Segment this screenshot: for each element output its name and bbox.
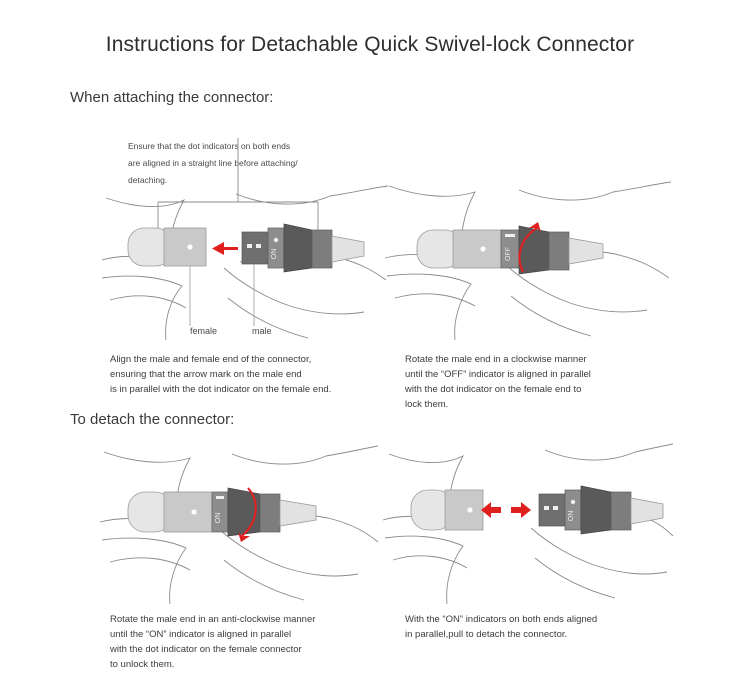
male-connector: ON [539,486,663,534]
caption-line-3: with the dot indicator on the female con… [110,642,376,657]
dot-indicator-male [571,500,575,504]
caption-line-4: lock them. [405,397,673,412]
female-connector [128,228,206,266]
section-heading-detach: To detach the connector: [70,411,234,428]
indicator-label-on: ON [271,249,278,260]
figure-unlock-connector: ON [120,440,370,605]
dot-indicator-female [467,507,472,512]
caption-lock: Rotate the male end in a clockwise manne… [405,352,673,412]
connected-assembly: ON [128,488,316,536]
caption-line-4: to unlock them. [110,657,376,672]
label-leaders [190,264,254,326]
caption-line-2: ensuring that the arrow mark on the male… [110,367,372,382]
label-male: male [252,326,272,336]
caption-line-1: Align the male and female end of the con… [110,352,372,367]
note-line-1: Ensure that the dot indicators on both e… [128,138,358,155]
caption-line-3: is in parallel with the dot indicator on… [110,382,372,397]
dot-indicator-female [191,509,196,514]
dot-indicator-male [274,238,278,242]
caption-line-1: Rotate the male end in an anti-clockwise… [110,612,376,627]
connected-assembly: OFF [417,226,603,274]
figure-pull-detach: ON [405,440,670,605]
label-female: female [190,326,217,336]
section-heading-attach: When attaching the connector: [70,89,273,106]
dot-indicator-female [480,246,485,251]
hand-outlines-left [102,198,186,340]
figure-align-connector: ON [120,180,370,340]
caption-line-1: Rotate the male end in a clockwise manne… [405,352,673,367]
page-title: Instructions for Detachable Quick Swivel… [0,33,740,57]
caption-line-3: with the dot indicator on the female end… [405,382,673,397]
arrow-attach-left [212,242,238,255]
indicator-label-on: ON [568,511,575,522]
caption-unlock: Rotate the male end in an anti-clockwise… [110,612,376,672]
note-line-2: are aligned in a straight line before at… [128,155,358,172]
caption-align: Align the male and female end of the con… [110,352,372,397]
male-connector: ON [242,224,364,272]
caption-pull: With the “ON” indicators on both ends al… [405,612,677,642]
female-connector [411,490,483,530]
indicator-label-off: OFF [505,247,512,261]
arrow-detach-double [481,502,531,518]
indicator-label-on: ON [215,513,222,524]
caption-line-2: in parallel,pull to detach the connector… [405,627,677,642]
instruction-sheet: Instructions for Detachable Quick Swivel… [0,0,740,687]
dot-indicator-female [187,244,192,249]
caption-line-2: until the “OFF” indicator is aligned in … [405,367,673,382]
caption-line-1: With the “ON” indicators on both ends al… [405,612,677,627]
figure-lock-connector: OFF [405,180,665,340]
caption-line-2: until the “ON” indicator is aligned in p… [110,627,376,642]
